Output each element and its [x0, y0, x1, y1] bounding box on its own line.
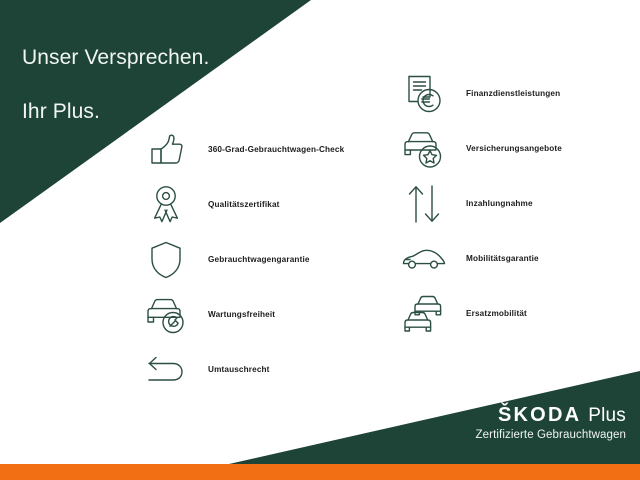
feature-item: Versicherungsangebote [398, 121, 562, 176]
feature-label: Gebrauchtwagengarantie [208, 255, 310, 264]
feature-item: 360-Grad-Gebrauchtwagen-Check [140, 122, 344, 177]
headline-line-1: Unser Versprechen. [22, 44, 322, 71]
two-cars-icon [398, 291, 450, 337]
promo-banner: Unser Versprechen. Ihr Plus. 360-Grad-Ge… [0, 0, 640, 480]
feature-label: Qualitätszertifikat [208, 200, 280, 209]
shield-icon [140, 237, 192, 283]
document-euro-icon [398, 71, 450, 117]
feature-item: Inzahlungnahme [398, 176, 562, 231]
feature-label: Ersatzmobilität [466, 309, 527, 318]
feature-label: Umtauschrecht [208, 365, 270, 374]
feature-item: Umtauschrecht [140, 342, 344, 397]
brand-lockup: ŠKODA Plus Zertifizierte Gebrauchtwagen [476, 405, 626, 442]
skoda-wordmark: ŠKODA [498, 405, 581, 425]
feature-list-left: 360-Grad-Gebrauchtwagen-Check Qualitätsz… [140, 122, 344, 397]
brand-wordmark-row: ŠKODA Plus [476, 405, 626, 425]
feature-item: Finanzdienstleistungen [398, 66, 562, 121]
brand-tagline: Zertifizierte Gebrauchtwagen [476, 430, 626, 442]
feature-item: Mobilitätsgarantie [398, 231, 562, 286]
car-star-icon [398, 126, 450, 172]
plus-wordmark: Plus [588, 406, 626, 425]
up-down-arrows-icon [398, 181, 450, 227]
feature-label: Versicherungsangebote [466, 144, 562, 153]
feature-label: Finanzdienstleistungen [466, 89, 560, 98]
feature-label: Mobilitätsgarantie [466, 254, 539, 263]
feature-item: Ersatzmobilität [398, 286, 562, 341]
return-arrow-icon [140, 347, 192, 393]
car-wrench-icon [140, 292, 192, 338]
feature-item: Qualitätszertifikat [140, 177, 344, 232]
feature-item: Wartungsfreiheit [140, 287, 344, 342]
feature-label: Inzahlungnahme [466, 199, 533, 208]
award-rosette-icon [140, 182, 192, 228]
thumbs-up-icon [140, 127, 192, 173]
feature-list-right: Finanzdienstleistungen Versicherungsange… [398, 66, 562, 341]
car-side-icon [398, 236, 450, 282]
headline-line-2: Ihr Plus. [22, 98, 322, 125]
feature-item: Gebrauchtwagengarantie [140, 232, 344, 287]
orange-bottom-bar [0, 464, 640, 480]
feature-label: Wartungsfreiheit [208, 310, 275, 319]
feature-label: 360-Grad-Gebrauchtwagen-Check [208, 145, 344, 154]
